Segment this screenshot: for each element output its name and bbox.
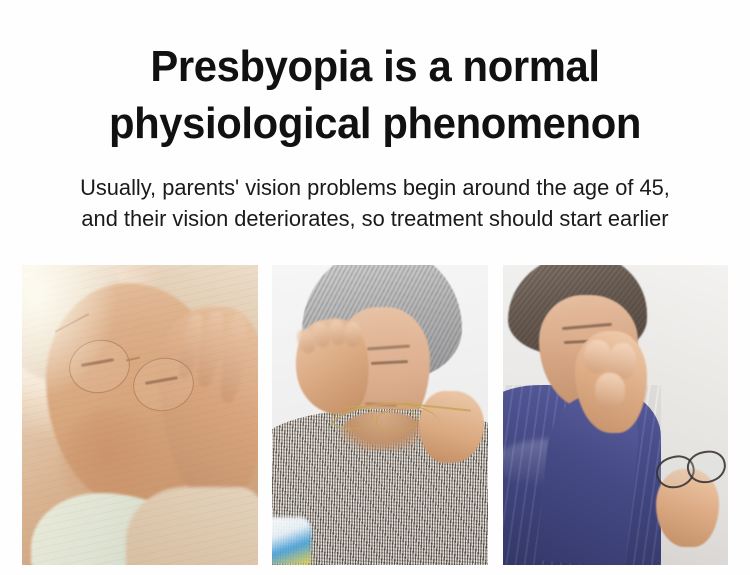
- headline-line-2: physiological phenomenon: [19, 95, 732, 152]
- page-subtitle: Usually, parents' vision problems begin …: [11, 172, 739, 234]
- page-title: Presbyopia is a normal physiological phe…: [19, 38, 732, 152]
- photo-1-highlight-glow: [22, 265, 121, 403]
- photo-woman-holding-glasses: [272, 265, 488, 565]
- photo-elderly-woman-temple: [22, 265, 258, 565]
- photo-2-finger-4: [344, 321, 361, 347]
- photo-1-canvas: [22, 265, 258, 565]
- photo-strip: [22, 265, 728, 565]
- photo-2-canvas: [272, 265, 488, 565]
- photo-3-canvas: [503, 265, 728, 565]
- photo-3-knuckle-3: [595, 373, 624, 409]
- photo-3-eyeglasses: [656, 451, 724, 487]
- presbyopia-poster: Presbyopia is a normal physiological phe…: [0, 0, 750, 575]
- headline-line-1: Presbyopia is a normal: [19, 38, 732, 95]
- subtitle-line-2: and their vision deteriorates, so treatm…: [11, 203, 739, 234]
- subtitle-line-1: Usually, parents' vision problems begin …: [11, 172, 739, 203]
- photo-2-background-object: [272, 517, 311, 565]
- photo-3-knuckle-1: [584, 340, 611, 373]
- photo-woman-pinching-nose: [503, 265, 728, 565]
- photo-3-eyeglass-lens-right: [684, 447, 728, 487]
